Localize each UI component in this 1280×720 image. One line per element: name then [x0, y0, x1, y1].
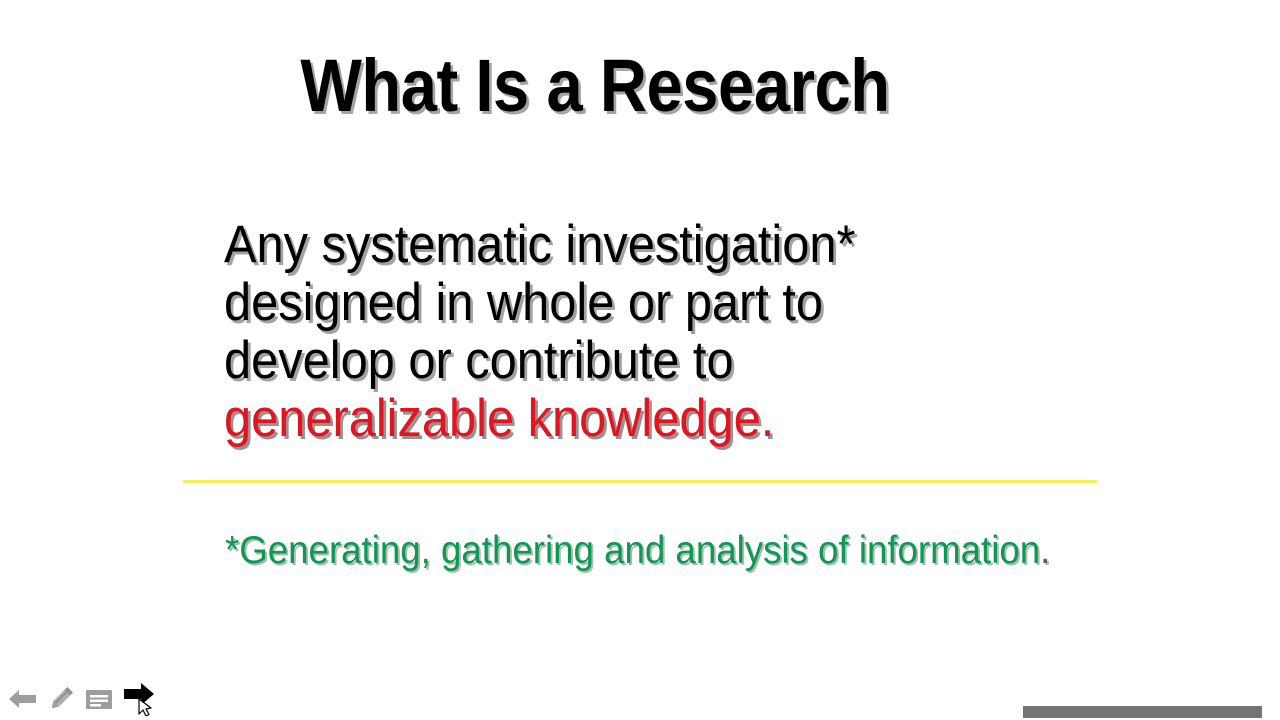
slide-body-text: Any systematic investigation* designed i… — [224, 216, 1104, 448]
pen-icon[interactable] — [44, 682, 78, 716]
body-line-4-highlight: generalizable knowledge. — [224, 390, 1034, 448]
slide-footnote: *Generating, gathering and analysis of i… — [225, 528, 1050, 574]
presentation-slide: What Is a Research Any systematic invest… — [0, 0, 1280, 720]
next-slide-arrow-icon[interactable] — [120, 678, 158, 716]
footnote-period: . — [1040, 529, 1050, 572]
previous-slide-arrow-icon[interactable] — [6, 682, 40, 716]
footnote-text: *Generating, gathering and analysis of i… — [225, 529, 1040, 572]
body-line-1: Any systematic investigation* — [224, 216, 1034, 274]
body-line-2: designed in whole or part to — [224, 274, 1034, 332]
divider-rule — [183, 480, 1097, 483]
slide-title: What Is a Research — [71, 46, 1118, 126]
body-line-3: develop or contribute to — [224, 332, 1034, 390]
slideshow-progress-bar[interactable] — [1023, 706, 1262, 718]
slide-notes-icon[interactable] — [82, 682, 116, 716]
slideshow-nav-toolbar — [6, 678, 158, 716]
